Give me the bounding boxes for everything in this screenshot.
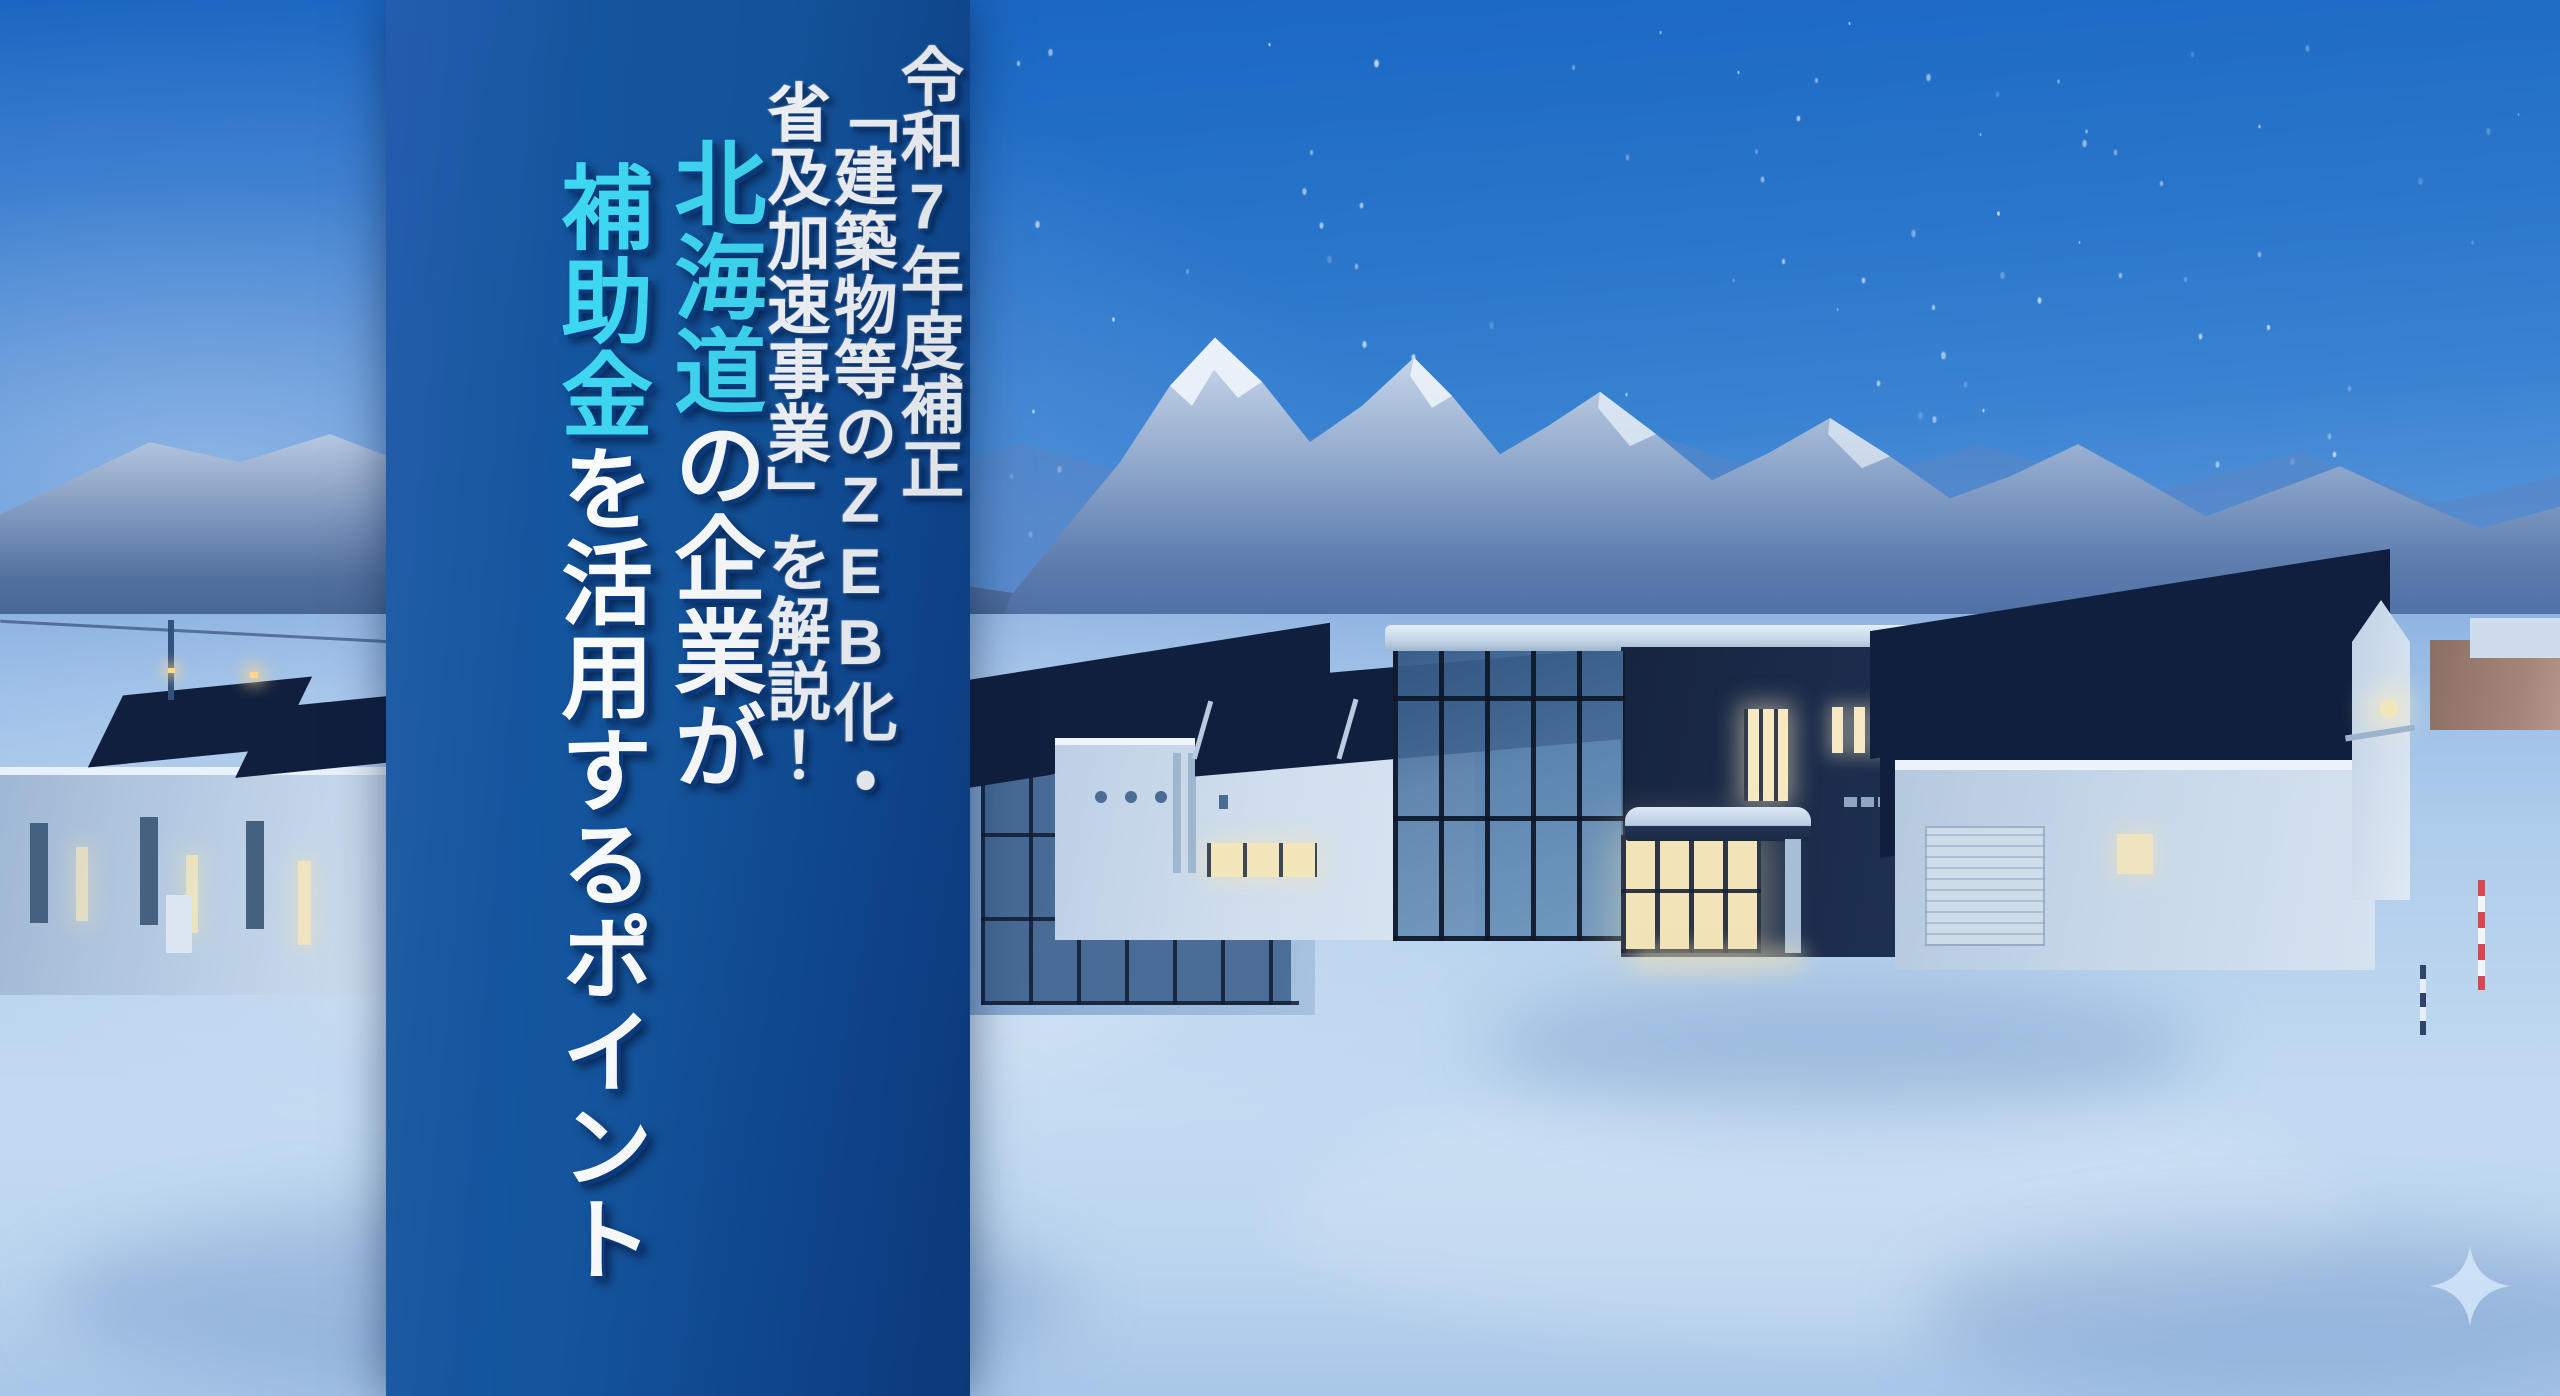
eyebrow-line-3: 省及加速事業」を解説！ — [760, 80, 827, 787]
star — [1049, 48, 1053, 55]
star — [2078, 241, 2080, 244]
star — [2305, 45, 2309, 52]
far-shed-2 — [2470, 618, 2560, 658]
left-warehouse — [0, 775, 390, 995]
star — [1659, 30, 1661, 34]
star — [2083, 140, 2088, 148]
hero-banner: 令和7年度補正 「建築物等のZEB化・ 省及加速事業」を解説！ 北海道の企業が … — [0, 0, 2560, 1396]
star — [1997, 212, 2000, 217]
star — [1755, 149, 1758, 154]
vertical-text-block: 令和7年度補正 「建築物等のZEB化・ 省及加速事業」を解説！ 北海道の企業が … — [386, 0, 970, 1396]
star — [2057, 79, 2060, 83]
star — [1017, 60, 1020, 66]
headline-line-1: 北海道の企業が — [663, 136, 760, 793]
star — [1912, 230, 1916, 237]
entrance-canopy — [1625, 807, 1811, 841]
star — [1926, 74, 1930, 81]
star — [1797, 115, 1800, 121]
eyebrow-line-2: 「建築物等のZEB化・ — [826, 80, 893, 808]
snow-pole — [2420, 965, 2426, 1035]
headline-line-1-highlight: 北海道 — [661, 136, 763, 418]
star — [2419, 177, 2424, 185]
star — [1374, 59, 1379, 67]
star — [2471, 240, 2473, 244]
text-panel: 令和7年度補正 「建築物等のZEB化・ 省及加速事業」を解説！ 北海道の企業が … — [386, 0, 970, 1396]
star — [1302, 188, 1306, 195]
glass-curtain-wall — [1393, 651, 1625, 941]
star — [1360, 203, 1364, 209]
star — [2258, 125, 2260, 129]
snow-pole — [2478, 880, 2485, 990]
village-light — [168, 668, 175, 673]
headline-line-1-rest: の企業が — [661, 418, 763, 793]
star — [1036, 221, 1040, 228]
star — [1980, 133, 1982, 136]
star — [1815, 78, 1818, 83]
utility-pole — [168, 620, 174, 700]
headline-line-2-rest: を活用するポイント — [548, 442, 650, 1287]
star — [1269, 42, 1271, 46]
star — [2191, 52, 2194, 57]
background-photo — [0, 0, 2560, 1396]
star — [1310, 150, 1313, 155]
star — [2486, 128, 2490, 135]
star — [2518, 113, 2520, 116]
star — [1572, 65, 1575, 70]
sparkle-star-icon — [2428, 1244, 2512, 1328]
star — [2114, 150, 2118, 156]
headline-line-2-highlight: 補助金 — [548, 160, 650, 442]
star — [1738, 71, 1740, 74]
right-barn — [1895, 770, 2375, 970]
star — [2085, 129, 2088, 133]
star — [2160, 181, 2163, 186]
village-light — [250, 672, 258, 678]
star — [1848, 22, 1850, 25]
star — [1996, 91, 2000, 97]
star — [1626, 154, 1630, 160]
stair-tower — [2352, 600, 2410, 900]
star — [1320, 223, 1324, 230]
headline-line-2: 補助金を活用するポイント — [550, 160, 647, 1286]
eyebrow-line-1: 令和7年度補正 — [893, 44, 960, 501]
star — [1761, 176, 1765, 182]
